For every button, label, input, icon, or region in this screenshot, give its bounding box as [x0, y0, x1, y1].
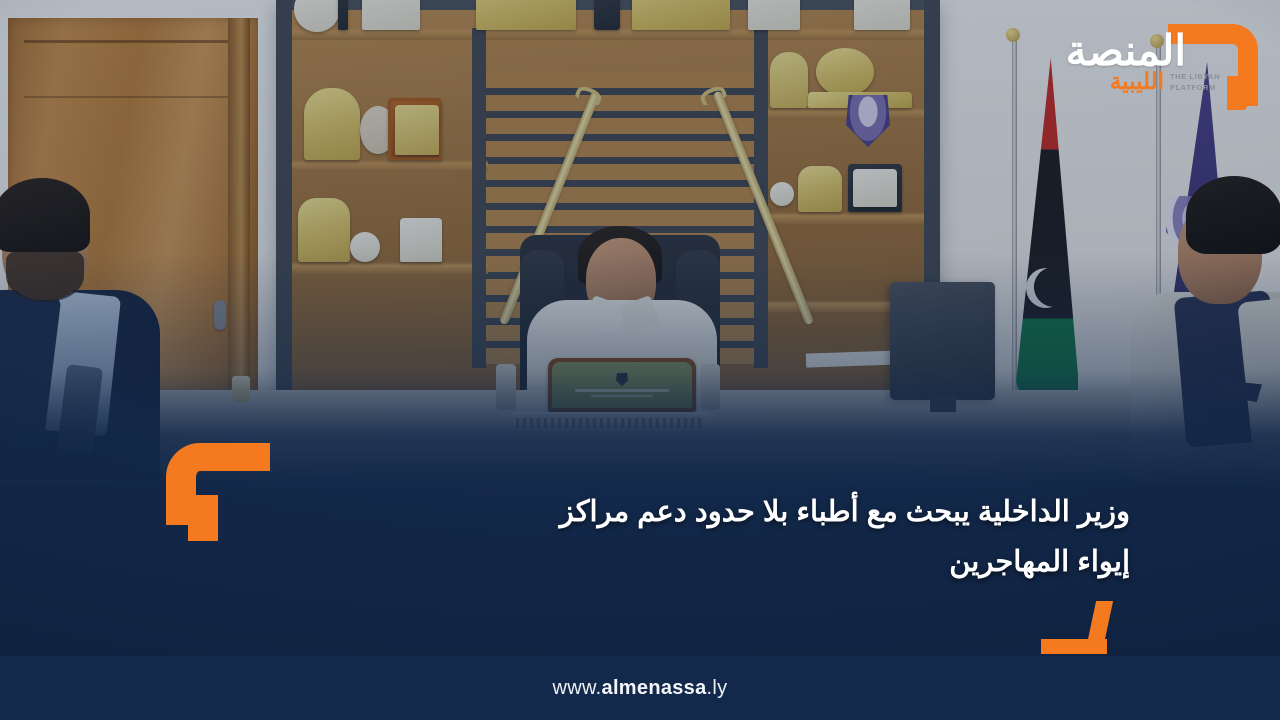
gold-plaque: [798, 166, 842, 212]
url-prefix: www.: [553, 677, 602, 699]
trophy-stand: [338, 0, 348, 30]
nameplate-text-line: [575, 389, 669, 392]
award-plaque: [362, 0, 420, 30]
website-url[interactable]: www.almenassa.ly: [553, 677, 728, 700]
shelf-board: [290, 262, 488, 274]
desk-ornament: [496, 364, 516, 410]
footer-bar: www.almenassa.ly: [0, 656, 1280, 720]
bracket-open-tail: [188, 495, 218, 541]
keyboard-keys: [516, 418, 704, 428]
dark-trophy: [594, 0, 620, 30]
desk-nameplate: [548, 358, 696, 412]
award-plaque: [400, 218, 442, 262]
bracket-close-icon: [1041, 601, 1123, 655]
logo-latin-tagline: THE LIBYAN PLATFORM: [1170, 72, 1240, 94]
shelf-board: [764, 108, 926, 120]
gold-plaque: [770, 52, 808, 108]
award-face: [853, 169, 897, 207]
hair: [1186, 176, 1280, 254]
shelf-board: [764, 212, 926, 224]
shelf-divider: [472, 28, 486, 368]
desk-ornament: [700, 364, 720, 410]
flagpole: [1012, 38, 1017, 418]
nameplate-badge-icon: [616, 373, 628, 386]
door-edge: [228, 18, 250, 438]
headline: وزير الداخلية يبحث مع أطباء بلا حدود دعم…: [220, 488, 1130, 588]
framed-award: [848, 164, 902, 212]
nameplate-text-line: [591, 395, 653, 397]
shelf-board: [290, 160, 488, 172]
wooden-plaque: [388, 98, 442, 160]
url-name: almenassa: [602, 677, 707, 699]
plaque-face: [395, 105, 439, 155]
beard: [6, 250, 84, 302]
nameplate-face: [552, 362, 692, 408]
url-suffix: .ly: [707, 677, 728, 699]
shelf-divider: [276, 0, 292, 400]
gold-trophy: [632, 0, 730, 30]
gold-plaque: [304, 88, 360, 160]
bracket-close-base: [1041, 639, 1107, 654]
ceramic-plate: [350, 232, 380, 262]
headline-line-1: وزير الداخلية يبحث مع أطباء بلا حدود دعم…: [220, 488, 1130, 538]
door-handle-icon: [214, 300, 226, 330]
brand-logo[interactable]: المنصة الليبية THE LIBYAN PLATFORM: [1037, 10, 1262, 105]
news-card: المنصة الليبية THE LIBYAN PLATFORM وزير …: [0, 0, 1280, 720]
monitor-stand: [930, 396, 956, 412]
flagpole-finial: [1006, 28, 1020, 42]
award-plaque: [748, 0, 800, 30]
gold-shield-plate: [816, 48, 874, 96]
tea-glass: [232, 376, 250, 402]
gold-plaque: [298, 198, 350, 262]
hair: [0, 178, 90, 252]
logo-arabic-sub: الليبية: [1110, 68, 1164, 95]
headline-line-2: إيواء المهاجرين: [220, 538, 1130, 588]
award-plaque: [854, 0, 910, 30]
gold-trophy: [476, 0, 576, 30]
computer-monitor: [890, 282, 995, 400]
ceramic-plate: [770, 182, 794, 206]
